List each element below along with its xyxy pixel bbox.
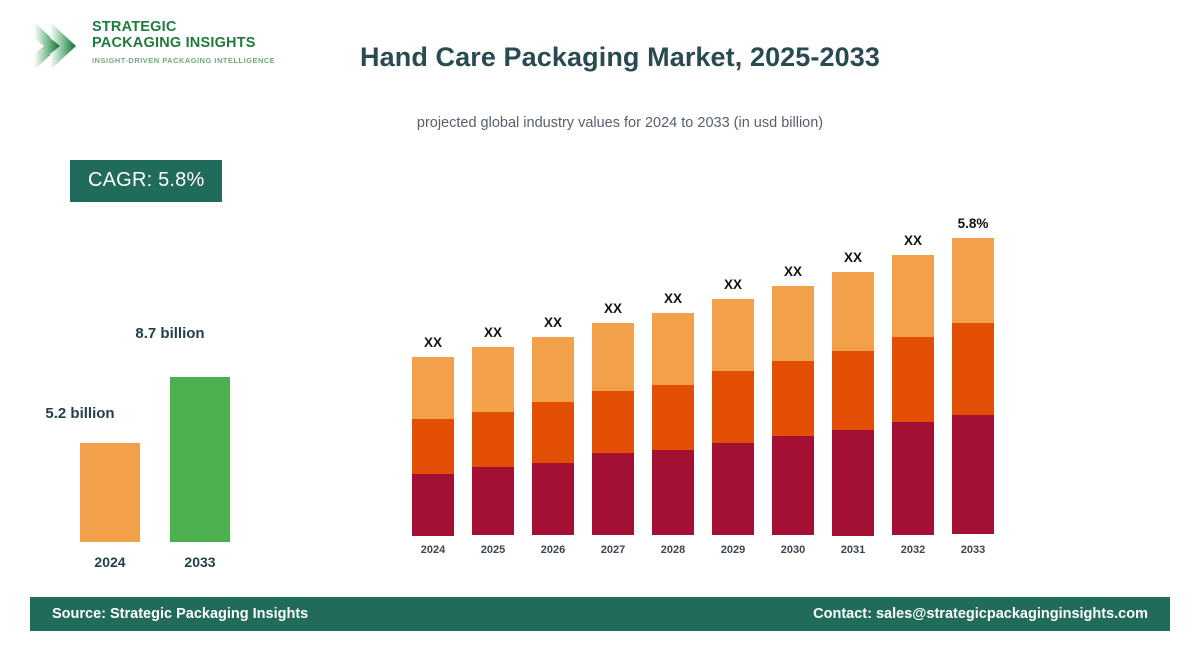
stacked-bar-year-2025: 2025 [463, 544, 523, 556]
stacked-bar-2027-segment-bottom [592, 453, 634, 535]
stacked-bar-label-2029: XX [693, 277, 773, 292]
comparison-year-2033: 2033 [140, 554, 260, 570]
stacked-bar-2024 [412, 357, 454, 535]
stacked-bar-2026-segment-middle [532, 402, 574, 463]
stacked-bar-2032-segment-bottom [892, 422, 934, 535]
stacked-bar-2032 [892, 255, 934, 535]
stacked-bar-label-2030: XX [753, 264, 833, 279]
cagr-badge: CAGR: 5.8% [70, 160, 222, 202]
stacked-bar-2033-segment-middle [952, 323, 994, 415]
page-title: Hand Care Packaging Market, 2025-2033 [0, 42, 1200, 73]
stacked-bar-label-2026: XX [513, 315, 593, 330]
comparison-value-2033: 8.7 billion [90, 325, 250, 342]
stacked-bar-year-2032: 2032 [883, 544, 943, 556]
stacked-bar-2027-segment-middle [592, 391, 634, 453]
stacked-bar-label-2028: XX [633, 291, 713, 306]
stacked-bar-2031-segment-bottom [832, 430, 874, 536]
stacked-bar-2030-segment-bottom [772, 436, 814, 535]
stacked-bar-year-2026: 2026 [523, 544, 583, 556]
stacked-bar-2030 [772, 286, 814, 535]
stacked-bar-2031-segment-middle [832, 351, 874, 430]
stacked-bar-2028 [652, 313, 694, 535]
stacked-bar-2027 [592, 323, 634, 535]
stacked-bar-2024-segment-middle [412, 419, 454, 474]
comparison-bar-2024 [80, 443, 140, 542]
stacked-bar-2024-segment-bottom [412, 474, 454, 536]
stacked-bar-2025-segment-middle [472, 412, 514, 467]
stacked-bar-2033-segment-bottom [952, 415, 994, 534]
stacked-bar-2029 [712, 299, 754, 535]
stacked-bar-2032-segment-top [892, 255, 934, 337]
footer-source: Source: Strategic Packaging Insights [52, 597, 308, 631]
stacked-bar-2029-segment-bottom [712, 443, 754, 535]
stacked-bar-2025-segment-top [472, 347, 514, 412]
stacked-forecast-chart: XX2024XX2025XX2026XX2027XX2028XX2029XX20… [400, 190, 1040, 560]
stacked-bar-2028-segment-top [652, 313, 694, 385]
stacked-bar-year-2027: 2027 [583, 544, 643, 556]
comparison-bar-2033-fill [170, 377, 230, 542]
stacked-bar-2033 [952, 238, 994, 535]
stacked-bar-2025-segment-bottom [472, 467, 514, 535]
stacked-bar-2028-segment-middle [652, 385, 694, 450]
stacked-bar-year-2029: 2029 [703, 544, 763, 556]
logo-line-1: STRATEGIC [92, 20, 275, 36]
stacked-bar-2031-segment-top [832, 272, 874, 351]
comparison-bar-2033 [170, 377, 230, 542]
stacked-bar-2029-segment-middle [712, 371, 754, 443]
stacked-bar-label-2032: XX [873, 233, 953, 248]
stacked-bar-year-2030: 2030 [763, 544, 823, 556]
stacked-bar-year-2028: 2028 [643, 544, 703, 556]
stacked-bar-2026-segment-bottom [532, 463, 574, 535]
footer-contact: Contact: sales@strategicpackaginginsight… [813, 597, 1148, 631]
stacked-bar-label-2031: XX [813, 250, 893, 265]
stacked-bar-year-2031: 2031 [823, 544, 883, 556]
stacked-bar-2024-segment-top [412, 357, 454, 419]
page-subtitle: projected global industry values for 202… [0, 115, 1200, 131]
stacked-bar-year-2033: 2033 [943, 544, 1003, 556]
comparison-bar-2024-fill [80, 443, 140, 542]
footer-bar: Source: Strategic Packaging Insights Con… [30, 597, 1170, 631]
stacked-bar-2030-segment-top [772, 286, 814, 361]
stacked-bar-year-2024: 2024 [403, 544, 463, 556]
stacked-bar-2028-segment-bottom [652, 450, 694, 535]
stacked-bar-2025 [472, 347, 514, 535]
stacked-bar-2026-segment-top [532, 337, 574, 402]
stacked-bar-2027-segment-top [592, 323, 634, 391]
stacked-bar-2030-segment-middle [772, 361, 814, 436]
market-size-comparison-chart: 5.2 billion 8.7 billion 2024 2033 [50, 320, 280, 570]
stacked-bar-2026 [532, 337, 574, 535]
comparison-value-2024: 5.2 billion [0, 405, 160, 422]
stacked-bar-label-2033: 5.8% [933, 216, 1013, 231]
stacked-bar-2033-segment-top [952, 238, 994, 323]
stacked-bar-2032-segment-middle [892, 337, 934, 422]
infographic-canvas: STRATEGIC PACKAGING INSIGHTS INSIGHT-DRI… [0, 0, 1200, 650]
stacked-bar-2031 [832, 272, 874, 535]
stacked-bar-2029-segment-top [712, 299, 754, 371]
